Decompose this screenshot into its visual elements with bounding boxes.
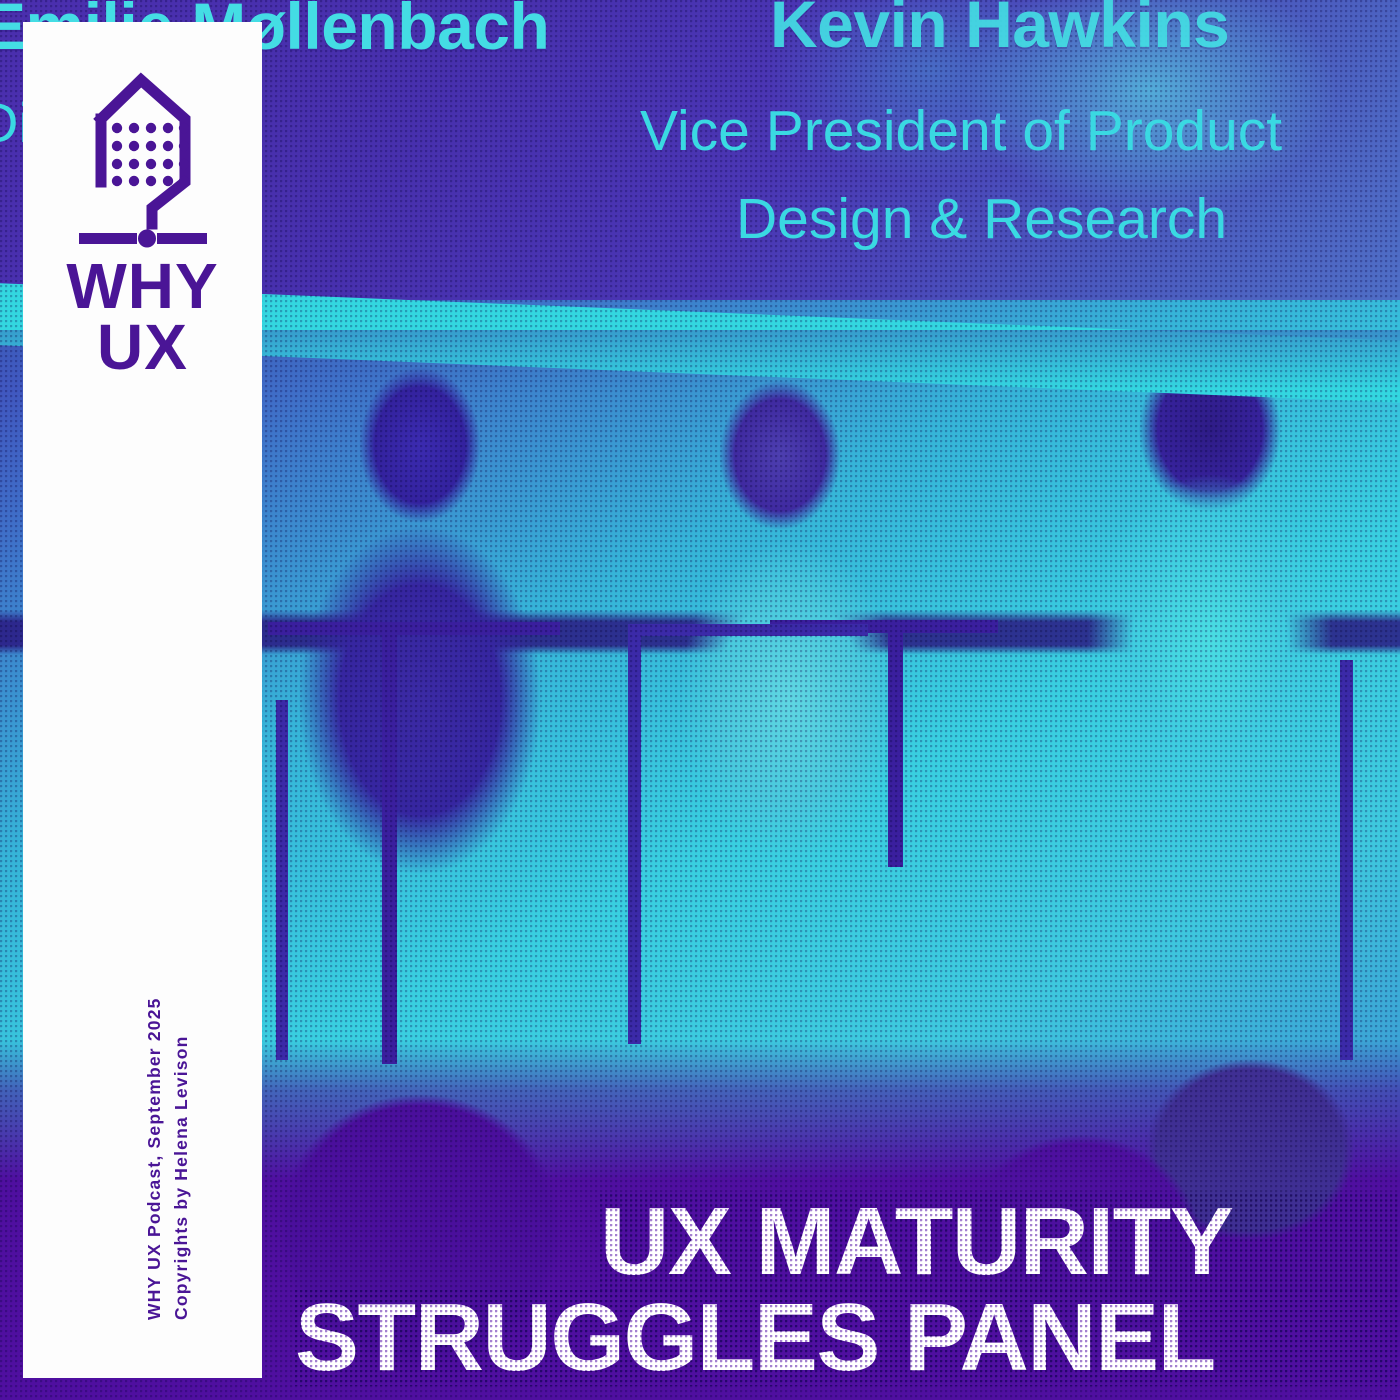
credits-line-1: WHY UX Podcast, September 2025 [141,860,168,1320]
slide-right-speaker-role-line2: Design & Research [736,186,1227,252]
episode-title-line-2: STRUGGLES PANEL [295,1290,1400,1386]
slide-right-speaker-role-line1: Vice President of Product [640,98,1282,164]
episode-title-line-1: UX MATURITY [600,1194,1400,1290]
chair-center-back [628,624,868,636]
episode-title: UX MATURITY STRUGGLES PANEL [560,1194,1400,1386]
microphone-question-mark-icon [79,66,207,256]
chair-left [276,700,288,1060]
chair-center [628,624,641,1044]
brand-card: WHY UX WHY UX Podcast, September 2025 Co… [23,22,262,1378]
chair-right [1340,660,1353,1060]
logo: WHY UX [23,66,262,379]
table-right-leg [888,632,903,867]
table-left-leg [382,634,397,1064]
credits-block: WHY UX Podcast, September 2025 Copyright… [141,860,195,1320]
table-left [268,622,560,635]
logo-wordmark: WHY UX [66,256,218,379]
podcast-cover: Emilie Møllenbach Director Kevin Hawkins… [0,0,1400,1400]
credits-line-2: Copyrights by Helena Levison [168,860,195,1320]
logo-word-ux: UX [66,317,218,378]
slide-right-speaker-name: Kevin Hawkins [770,0,1229,62]
